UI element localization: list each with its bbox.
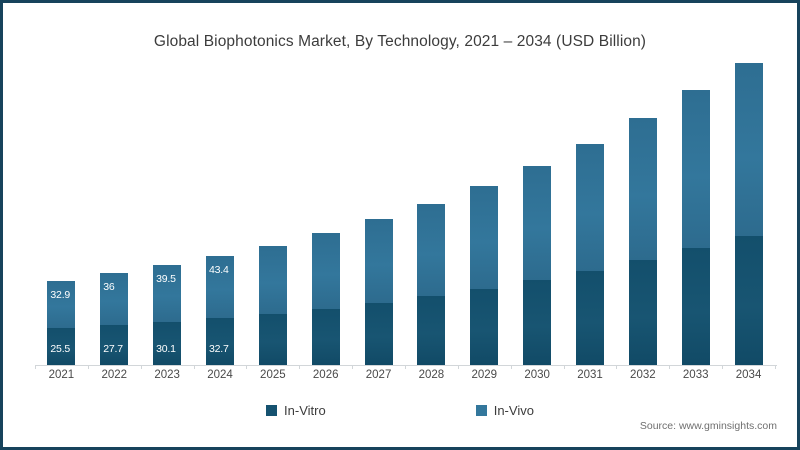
x-tick-label-2034: 2034 [722,369,775,381]
bar-segment-in-vivo-2023[interactable]: 39.5 [153,265,181,322]
bar-group-2024[interactable]: 43.432.7 [206,63,234,365]
bar-segment-in-vitro-2027[interactable] [365,303,393,365]
legend-swatch-in-vitro-icon [266,405,277,416]
x-tick-label-2023: 2023 [141,369,194,381]
bar-segment-in-vivo-2022[interactable]: 36 [100,273,128,325]
bar-segment-in-vivo-2024[interactable]: 43.4 [206,256,234,318]
bar-segment-in-vitro-2021[interactable]: 25.5 [47,328,75,365]
bar-group-2025[interactable] [259,63,287,365]
legend-item-in-vitro[interactable]: In-Vitro [266,403,326,418]
bar-segment-in-vitro-2033[interactable] [682,248,710,365]
bar-segment-in-vitro-2029[interactable] [470,289,498,365]
x-tick-mark-2033 [669,365,670,369]
bar-label-in-vitro-2022: 27.7 [103,344,123,355]
bar-segment-in-vitro-2026[interactable] [312,309,340,365]
bar-group-2034[interactable] [735,63,763,365]
bar-segment-in-vivo-2028[interactable] [417,204,445,297]
x-tick-label-2030: 2030 [511,369,564,381]
x-tick-label-2033: 2033 [669,369,722,381]
bar-label-in-vivo-2021: 32.9 [50,290,70,301]
bar-segment-in-vivo-2031[interactable] [576,144,604,271]
x-axis-tick-labels: 2021202220232024202520262027202820292030… [35,369,775,389]
bar-group-2023[interactable]: 39.530.1 [153,63,181,365]
bar-label-in-vitro-2024: 32.7 [209,344,229,355]
x-tick-mark-2032 [616,365,617,369]
bar-segment-in-vivo-2032[interactable] [629,118,657,260]
bar-label-in-vitro-2021: 25.5 [50,344,70,355]
x-tick-label-2025: 2025 [246,369,299,381]
x-tick-mark-2025 [246,365,247,369]
chart-title: Global Biophotonics Market, By Technolog… [3,33,797,51]
bar-segment-in-vitro-2030[interactable] [523,280,551,365]
legend-item-in-vivo[interactable]: In-Vivo [476,403,534,418]
x-tick-mark-2028 [405,365,406,369]
bar-group-2029[interactable] [470,63,498,365]
bar-label-in-vitro-2023: 30.1 [156,344,176,355]
x-tick-label-2024: 2024 [194,369,247,381]
x-tick-mark-2026 [299,365,300,369]
legend-label-in-vitro: In-Vitro [284,403,326,418]
bar-group-2031[interactable] [576,63,604,365]
bar-segment-in-vitro-2031[interactable] [576,271,604,365]
bar-segment-in-vitro-2034[interactable] [735,236,763,365]
bar-segment-in-vivo-2034[interactable] [735,63,763,236]
bar-segment-in-vitro-2022[interactable]: 27.7 [100,325,128,365]
x-tick-mark-2034 [722,365,723,369]
bar-group-2030[interactable] [523,63,551,365]
bar-group-2026[interactable] [312,63,340,365]
bar-segment-in-vivo-2027[interactable] [365,219,393,302]
x-tick-mark-2029 [458,365,459,369]
x-tick-mark-end [775,365,776,369]
bar-segment-in-vivo-2033[interactable] [682,90,710,248]
x-tick-label-2029: 2029 [458,369,511,381]
bar-label-in-vivo-2023: 39.5 [156,274,176,285]
bar-segment-in-vivo-2030[interactable] [523,166,551,280]
x-tick-label-2027: 2027 [352,369,405,381]
x-tick-label-2028: 2028 [405,369,458,381]
x-tick-label-2026: 2026 [299,369,352,381]
bar-segment-in-vivo-2021[interactable]: 32.9 [47,281,75,328]
bar-group-2028[interactable] [417,63,445,365]
bar-segment-in-vitro-2023[interactable]: 30.1 [153,322,181,365]
bar-segment-in-vivo-2029[interactable] [470,186,498,289]
bar-group-2032[interactable] [629,63,657,365]
x-tick-mark-2021 [35,365,36,369]
bar-segment-in-vitro-2024[interactable]: 32.7 [206,318,234,365]
bar-label-in-vivo-2024: 43.4 [209,265,229,276]
plot-area: 32.925.53627.739.530.143.432.7 [35,63,775,365]
bar-segment-in-vivo-2025[interactable] [259,246,287,314]
bar-label-in-vivo-2022: 36 [103,282,114,293]
source-attribution: Source: www.gminsights.com [640,420,777,432]
legend-label-in-vivo: In-Vivo [494,403,534,418]
x-tick-label-2022: 2022 [88,369,141,381]
bar-segment-in-vitro-2028[interactable] [417,296,445,365]
chart-legend: In-Vitro In-Vivo [3,403,797,418]
x-tick-mark-2022 [88,365,89,369]
legend-swatch-in-vivo-icon [476,405,487,416]
bar-group-2027[interactable] [365,63,393,365]
x-axis-line [35,365,777,366]
bar-group-2022[interactable]: 3627.7 [100,63,128,365]
bar-segment-in-vivo-2026[interactable] [312,233,340,309]
x-tick-mark-2024 [194,365,195,369]
x-tick-label-2021: 2021 [35,369,88,381]
bar-group-2021[interactable]: 32.925.5 [47,63,75,365]
bar-segment-in-vitro-2025[interactable] [259,314,287,365]
x-tick-label-2032: 2032 [616,369,669,381]
x-tick-mark-2030 [511,365,512,369]
x-tick-mark-2027 [352,365,353,369]
bar-segment-in-vitro-2032[interactable] [629,260,657,365]
x-tick-mark-2023 [141,365,142,369]
x-tick-mark-2031 [564,365,565,369]
bar-group-2033[interactable] [682,63,710,365]
x-tick-label-2031: 2031 [564,369,617,381]
chart-page: Global Biophotonics Market, By Technolog… [0,0,800,450]
